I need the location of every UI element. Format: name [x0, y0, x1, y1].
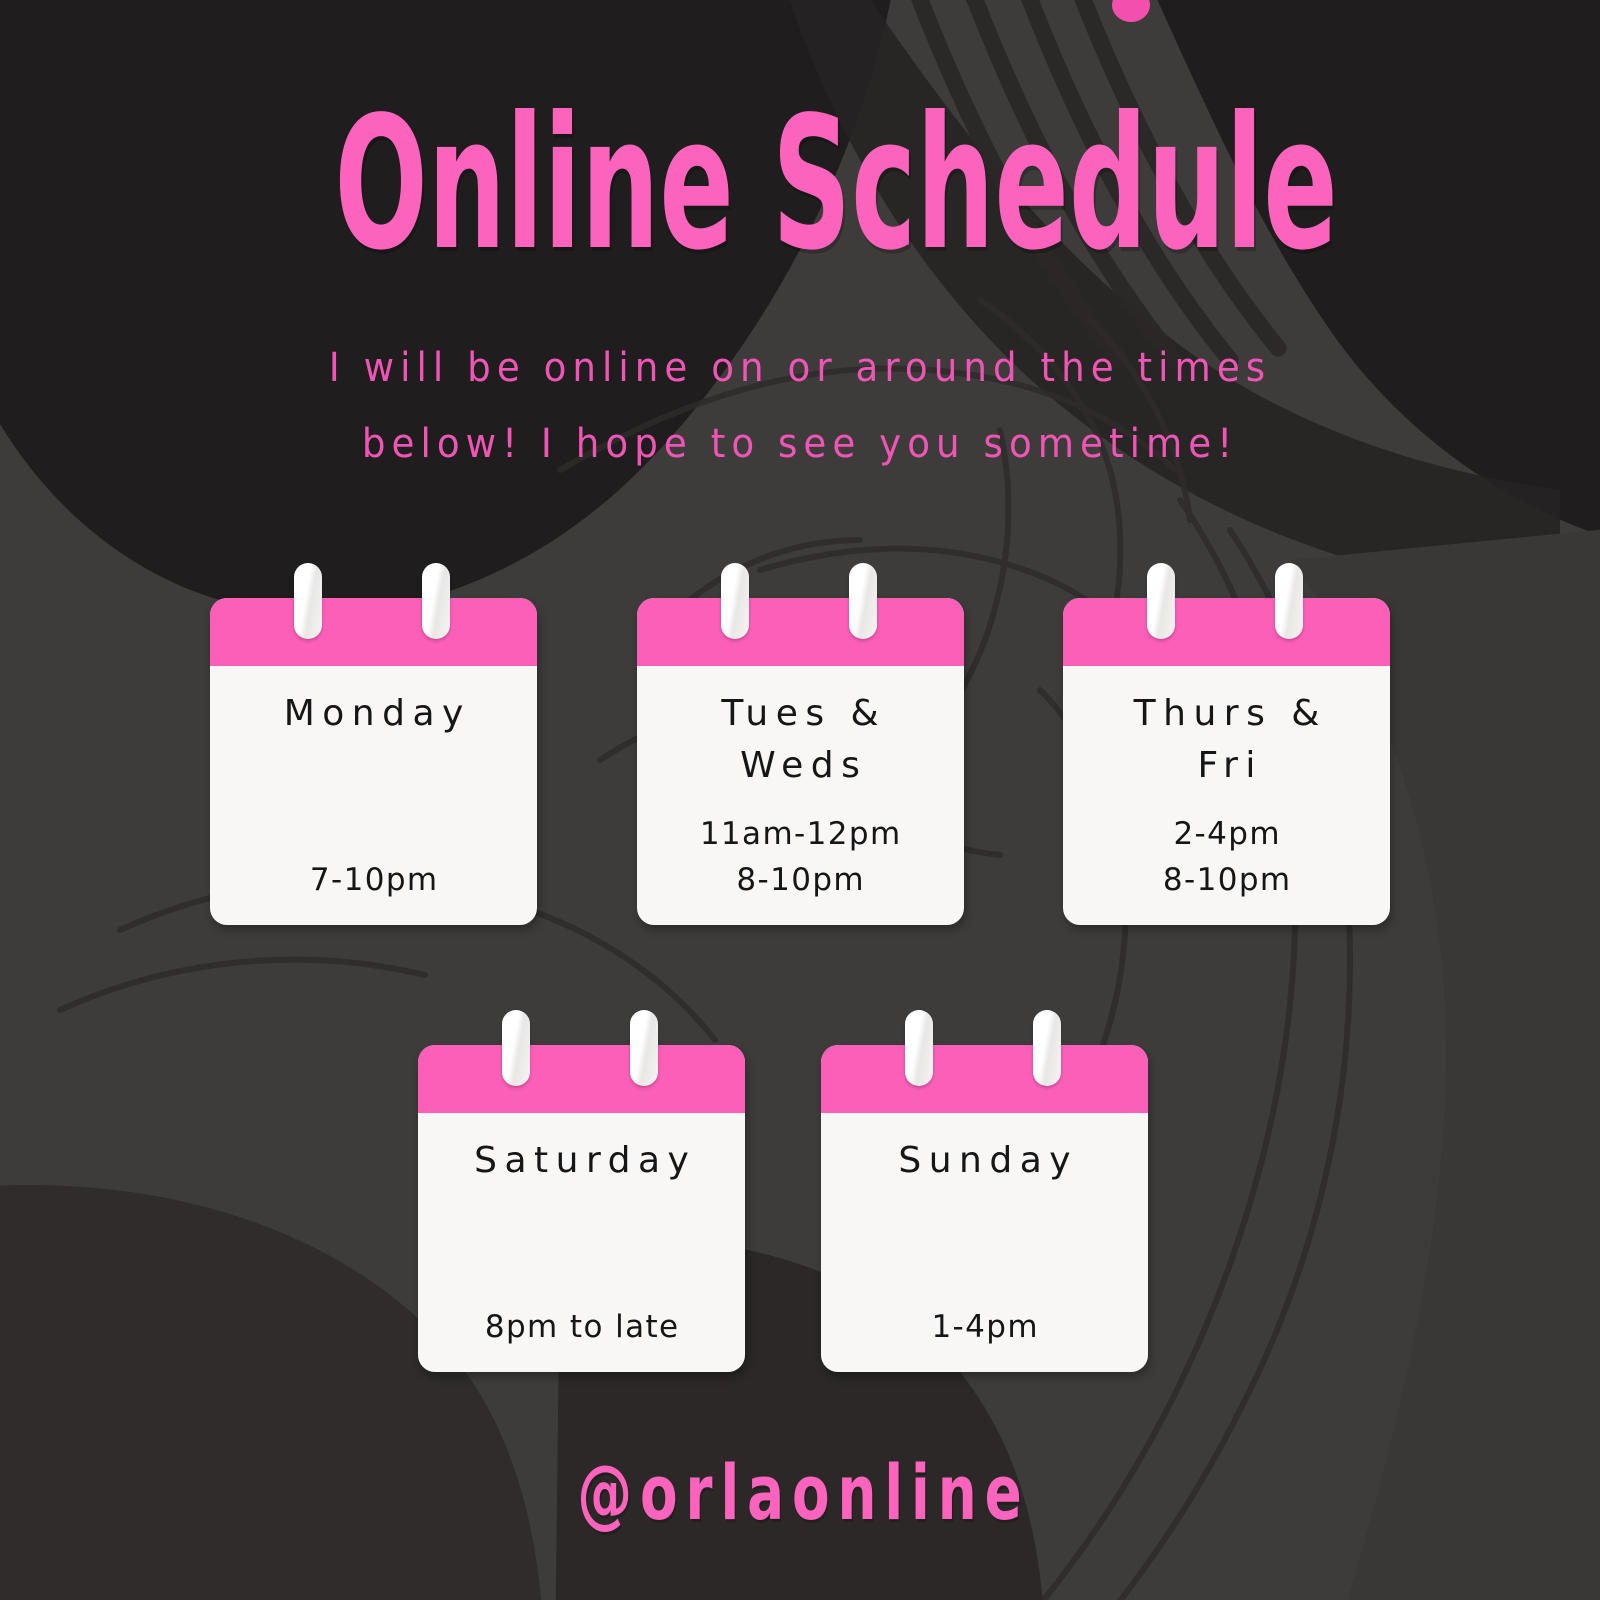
calendar-times: 7-10pm [220, 857, 527, 903]
subtitle-line-1: I will be online on or around the times [56, 330, 1544, 406]
calendar-body: Tues & Weds 11am-12pm 8-10pm [637, 598, 964, 925]
calendar-day-label: Sunday [831, 1135, 1138, 1187]
calendar-time-slot: 1-4pm [831, 1304, 1138, 1350]
calendar-header-band [637, 598, 964, 666]
calendar-content: Tues & Weds 11am-12pm 8-10pm [637, 666, 964, 925]
calendar-body: Monday 7-10pm [210, 598, 537, 925]
calendar-header-band [210, 598, 537, 666]
calendar-card-monday: Monday 7-10pm [210, 563, 537, 925]
calendar-header-band [821, 1045, 1148, 1113]
social-handle: @orlaonline [0, 1450, 1600, 1536]
schedule-poster: Online Schedule I will be online on or a… [0, 0, 1600, 1600]
calendar-times: 11am-12pm 8-10pm [647, 811, 954, 903]
calendar-day-label: Saturday [428, 1135, 735, 1187]
calendar-card-thurs-fri: Thurs & Fri 2-4pm 8-10pm [1063, 563, 1390, 925]
calendar-times: 2-4pm 8-10pm [1073, 811, 1380, 903]
calendar-times: 1-4pm [831, 1304, 1138, 1350]
subtitle: I will be online on or around the times … [0, 330, 1600, 482]
subtitle-line-2: below! I hope to see you sometime! [56, 406, 1544, 482]
calendar-body: Sunday 1-4pm [821, 1045, 1148, 1372]
calendar-body: Saturday 8pm to late [418, 1045, 745, 1372]
calendar-time-slot: 8-10pm [647, 857, 954, 903]
schedule-row-bottom: Saturday 8pm to late Sunday 1-4pm [418, 1010, 1148, 1372]
calendar-day-label: Monday [220, 688, 527, 740]
calendar-time-slot: 7-10pm [220, 857, 527, 903]
schedule-row-top: Monday 7-10pm Tues & Weds [210, 563, 1390, 925]
calendar-day-label: Thurs & Fri [1073, 688, 1380, 792]
calendar-day-label-line-2: Weds [647, 740, 954, 792]
social-handle-text: @orlaonline [570, 1450, 1030, 1536]
calendar-time-slot: 8pm to late [428, 1304, 735, 1350]
page-title-text: Online Schedule [334, 96, 1337, 274]
calendar-card-tues-weds: Tues & Weds 11am-12pm 8-10pm [637, 563, 964, 925]
page-title: Online Schedule [0, 96, 1600, 274]
calendar-day-label-line-2: Fri [1073, 740, 1380, 792]
calendar-time-slot: 11am-12pm [647, 811, 954, 857]
calendar-header-band [418, 1045, 745, 1113]
calendar-header-band [1063, 598, 1390, 666]
calendar-content: Saturday 8pm to late [418, 1113, 745, 1372]
calendar-times: 8pm to late [428, 1304, 735, 1350]
calendar-day-label-line-1: Tues & [647, 688, 954, 740]
calendar-body: Thurs & Fri 2-4pm 8-10pm [1063, 598, 1390, 925]
calendar-day-label: Tues & Weds [647, 688, 954, 792]
calendar-content: Monday 7-10pm [210, 666, 537, 925]
calendar-card-sunday: Sunday 1-4pm [821, 1010, 1148, 1372]
calendar-card-saturday: Saturday 8pm to late [418, 1010, 745, 1372]
calendar-content: Thurs & Fri 2-4pm 8-10pm [1063, 666, 1390, 925]
calendar-time-slot: 2-4pm [1073, 811, 1380, 857]
calendar-day-label-line-1: Thurs & [1073, 688, 1380, 740]
calendar-time-slot: 8-10pm [1073, 857, 1380, 903]
calendar-content: Sunday 1-4pm [821, 1113, 1148, 1372]
